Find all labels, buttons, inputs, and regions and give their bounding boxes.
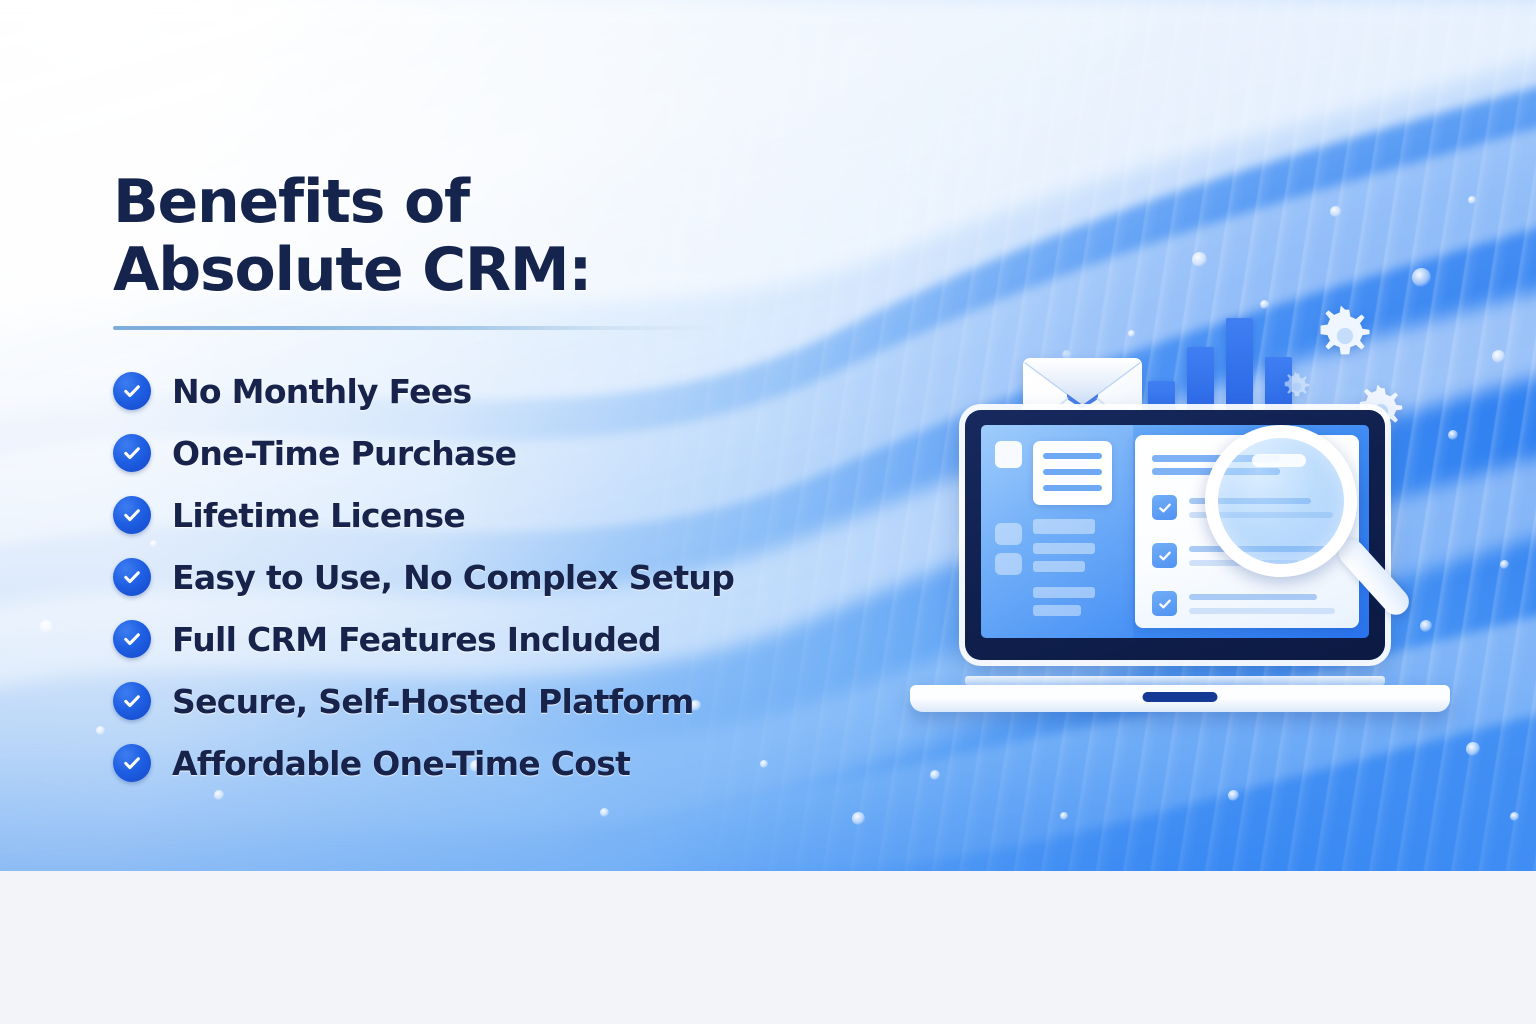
gear-icon-large — [1315, 306, 1375, 366]
page-title-line-2: Absolute CRM: — [113, 236, 913, 304]
laptop-trackpad — [1143, 692, 1218, 702]
sidebar-placeholder-line — [1033, 605, 1081, 616]
magnifier-handle — [1333, 534, 1414, 620]
check-circle-icon — [113, 682, 151, 720]
sidebar-placeholder-line — [1033, 587, 1095, 598]
check-circle-icon — [113, 496, 151, 534]
sidebar-tile — [995, 553, 1022, 575]
check-circle-icon — [113, 620, 151, 658]
check-circle-icon — [113, 558, 151, 596]
benefit-label: No Monthly Fees — [172, 372, 471, 411]
checkbox-checked-icon — [1152, 543, 1177, 568]
benefit-label: One-Time Purchase — [172, 434, 516, 473]
crm-illustration — [890, 300, 1510, 760]
benefit-label: Affordable One-Time Cost — [172, 744, 630, 783]
benefit-label: Lifetime License — [172, 496, 465, 535]
benefit-label: Full CRM Features Included — [172, 620, 661, 659]
checkbox-checked-icon — [1152, 591, 1177, 616]
magnifier-lens — [1205, 425, 1357, 577]
page-title: Benefits of Absolute CRM: — [113, 168, 913, 304]
benefits-list: No Monthly Fees One-Time Purchase — [113, 360, 913, 794]
list-item: Lifetime License — [113, 484, 913, 546]
page-title-line-1: Benefits of — [113, 167, 469, 237]
list-item: Secure, Self-Hosted Platform — [113, 670, 913, 732]
list-item: Full CRM Features Included — [113, 608, 913, 670]
laptop-hinge — [965, 676, 1385, 685]
page-footer-strip — [0, 871, 1536, 1024]
promo-banner-page: Benefits of Absolute CRM: No Monthly Fee… — [0, 0, 1536, 1024]
check-circle-icon — [113, 744, 151, 782]
sidebar-placeholder-line — [1033, 519, 1095, 534]
hero-banner: Benefits of Absolute CRM: No Monthly Fee… — [0, 0, 1536, 871]
banner-text-column: Benefits of Absolute CRM: No Monthly Fee… — [113, 168, 913, 794]
list-item: Affordable One-Time Cost — [113, 732, 913, 794]
title-divider — [113, 326, 720, 330]
laptop-base — [910, 685, 1450, 712]
sidebar-tile — [995, 441, 1022, 468]
benefit-label: Secure, Self-Hosted Platform — [172, 682, 694, 721]
list-item: Easy to Use, No Complex Setup — [113, 546, 913, 608]
sidebar-tile — [995, 523, 1022, 545]
list-item: One-Time Purchase — [113, 422, 913, 484]
gear-icon-small — [1282, 372, 1312, 402]
sidebar-placeholder-line — [1033, 561, 1085, 572]
sidebar-placeholder-line — [1033, 543, 1095, 554]
benefit-label: Easy to Use, No Complex Setup — [172, 558, 734, 597]
list-item: No Monthly Fees — [113, 360, 913, 422]
dashboard-sidebar — [981, 425, 1133, 638]
sidebar-card — [1033, 441, 1112, 505]
magnifier-icon — [1205, 425, 1405, 625]
check-circle-icon — [113, 372, 151, 410]
checkbox-checked-icon — [1152, 495, 1177, 520]
check-circle-icon — [113, 434, 151, 472]
magnifier-glint — [1252, 454, 1306, 467]
